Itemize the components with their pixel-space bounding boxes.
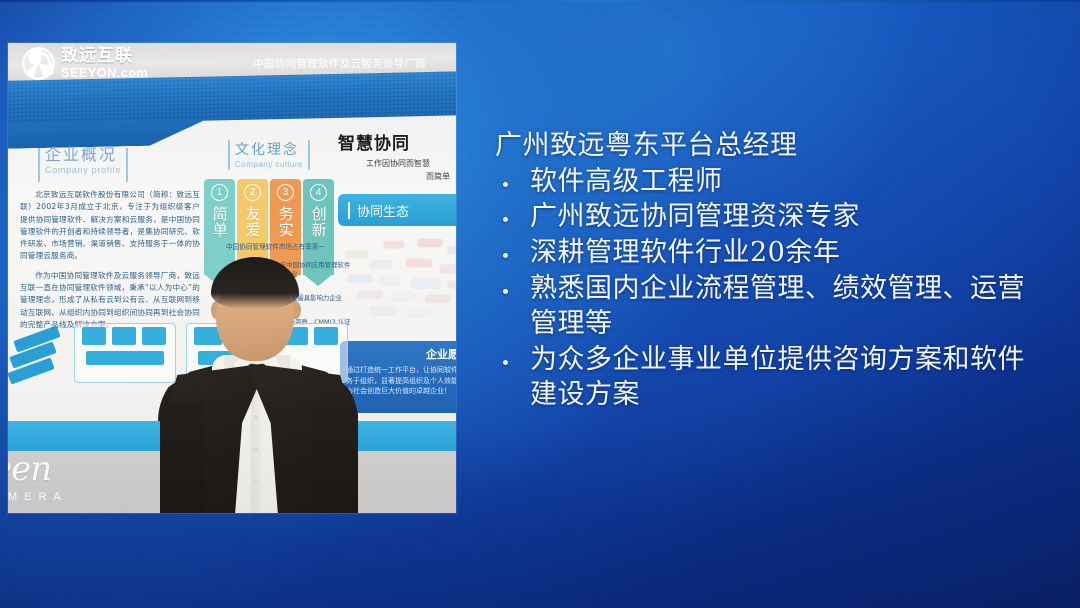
person-sleeve-left xyxy=(160,403,204,513)
bio-bullet-item: 广州致远协同管理资深专家 xyxy=(490,199,1035,235)
bio-bullet-item: 深耕管理软件行业20余年 xyxy=(490,235,1035,271)
bio-heading: 广州致远粤东平台总经理 xyxy=(495,128,1035,164)
person-figure xyxy=(8,43,456,513)
slide-root: 致远互联 SEEYON.com 中国协同管理软件及云服务领导厂商 企业概况 Co… xyxy=(0,0,1080,608)
bio-text-column: 广州致远粤东平台总经理 软件高级工程师 广州致远协同管理资深专家 深耕管理软件行… xyxy=(490,128,1035,413)
person-hair xyxy=(211,257,299,309)
background-top-edge xyxy=(0,0,1080,2)
bio-bullet-item: 软件高级工程师 xyxy=(490,164,1035,200)
person-shirt-placket xyxy=(251,379,261,513)
bio-bullet-item: 熟悉国内企业流程管理、绩效管理、运营管理等 xyxy=(490,271,1035,342)
speaker-photo: 致远互联 SEEYON.com 中国协同管理软件及云服务领导厂商 企业概况 Co… xyxy=(8,43,456,513)
bio-bullet-list: 软件高级工程师 广州致远协同管理资深专家 深耕管理软件行业20余年 熟悉国内企业… xyxy=(490,164,1035,413)
person-sleeve-right xyxy=(314,403,358,513)
bio-bullet-item: 为众多企业事业单位提供咨询方案和软件建设方案 xyxy=(490,342,1035,413)
